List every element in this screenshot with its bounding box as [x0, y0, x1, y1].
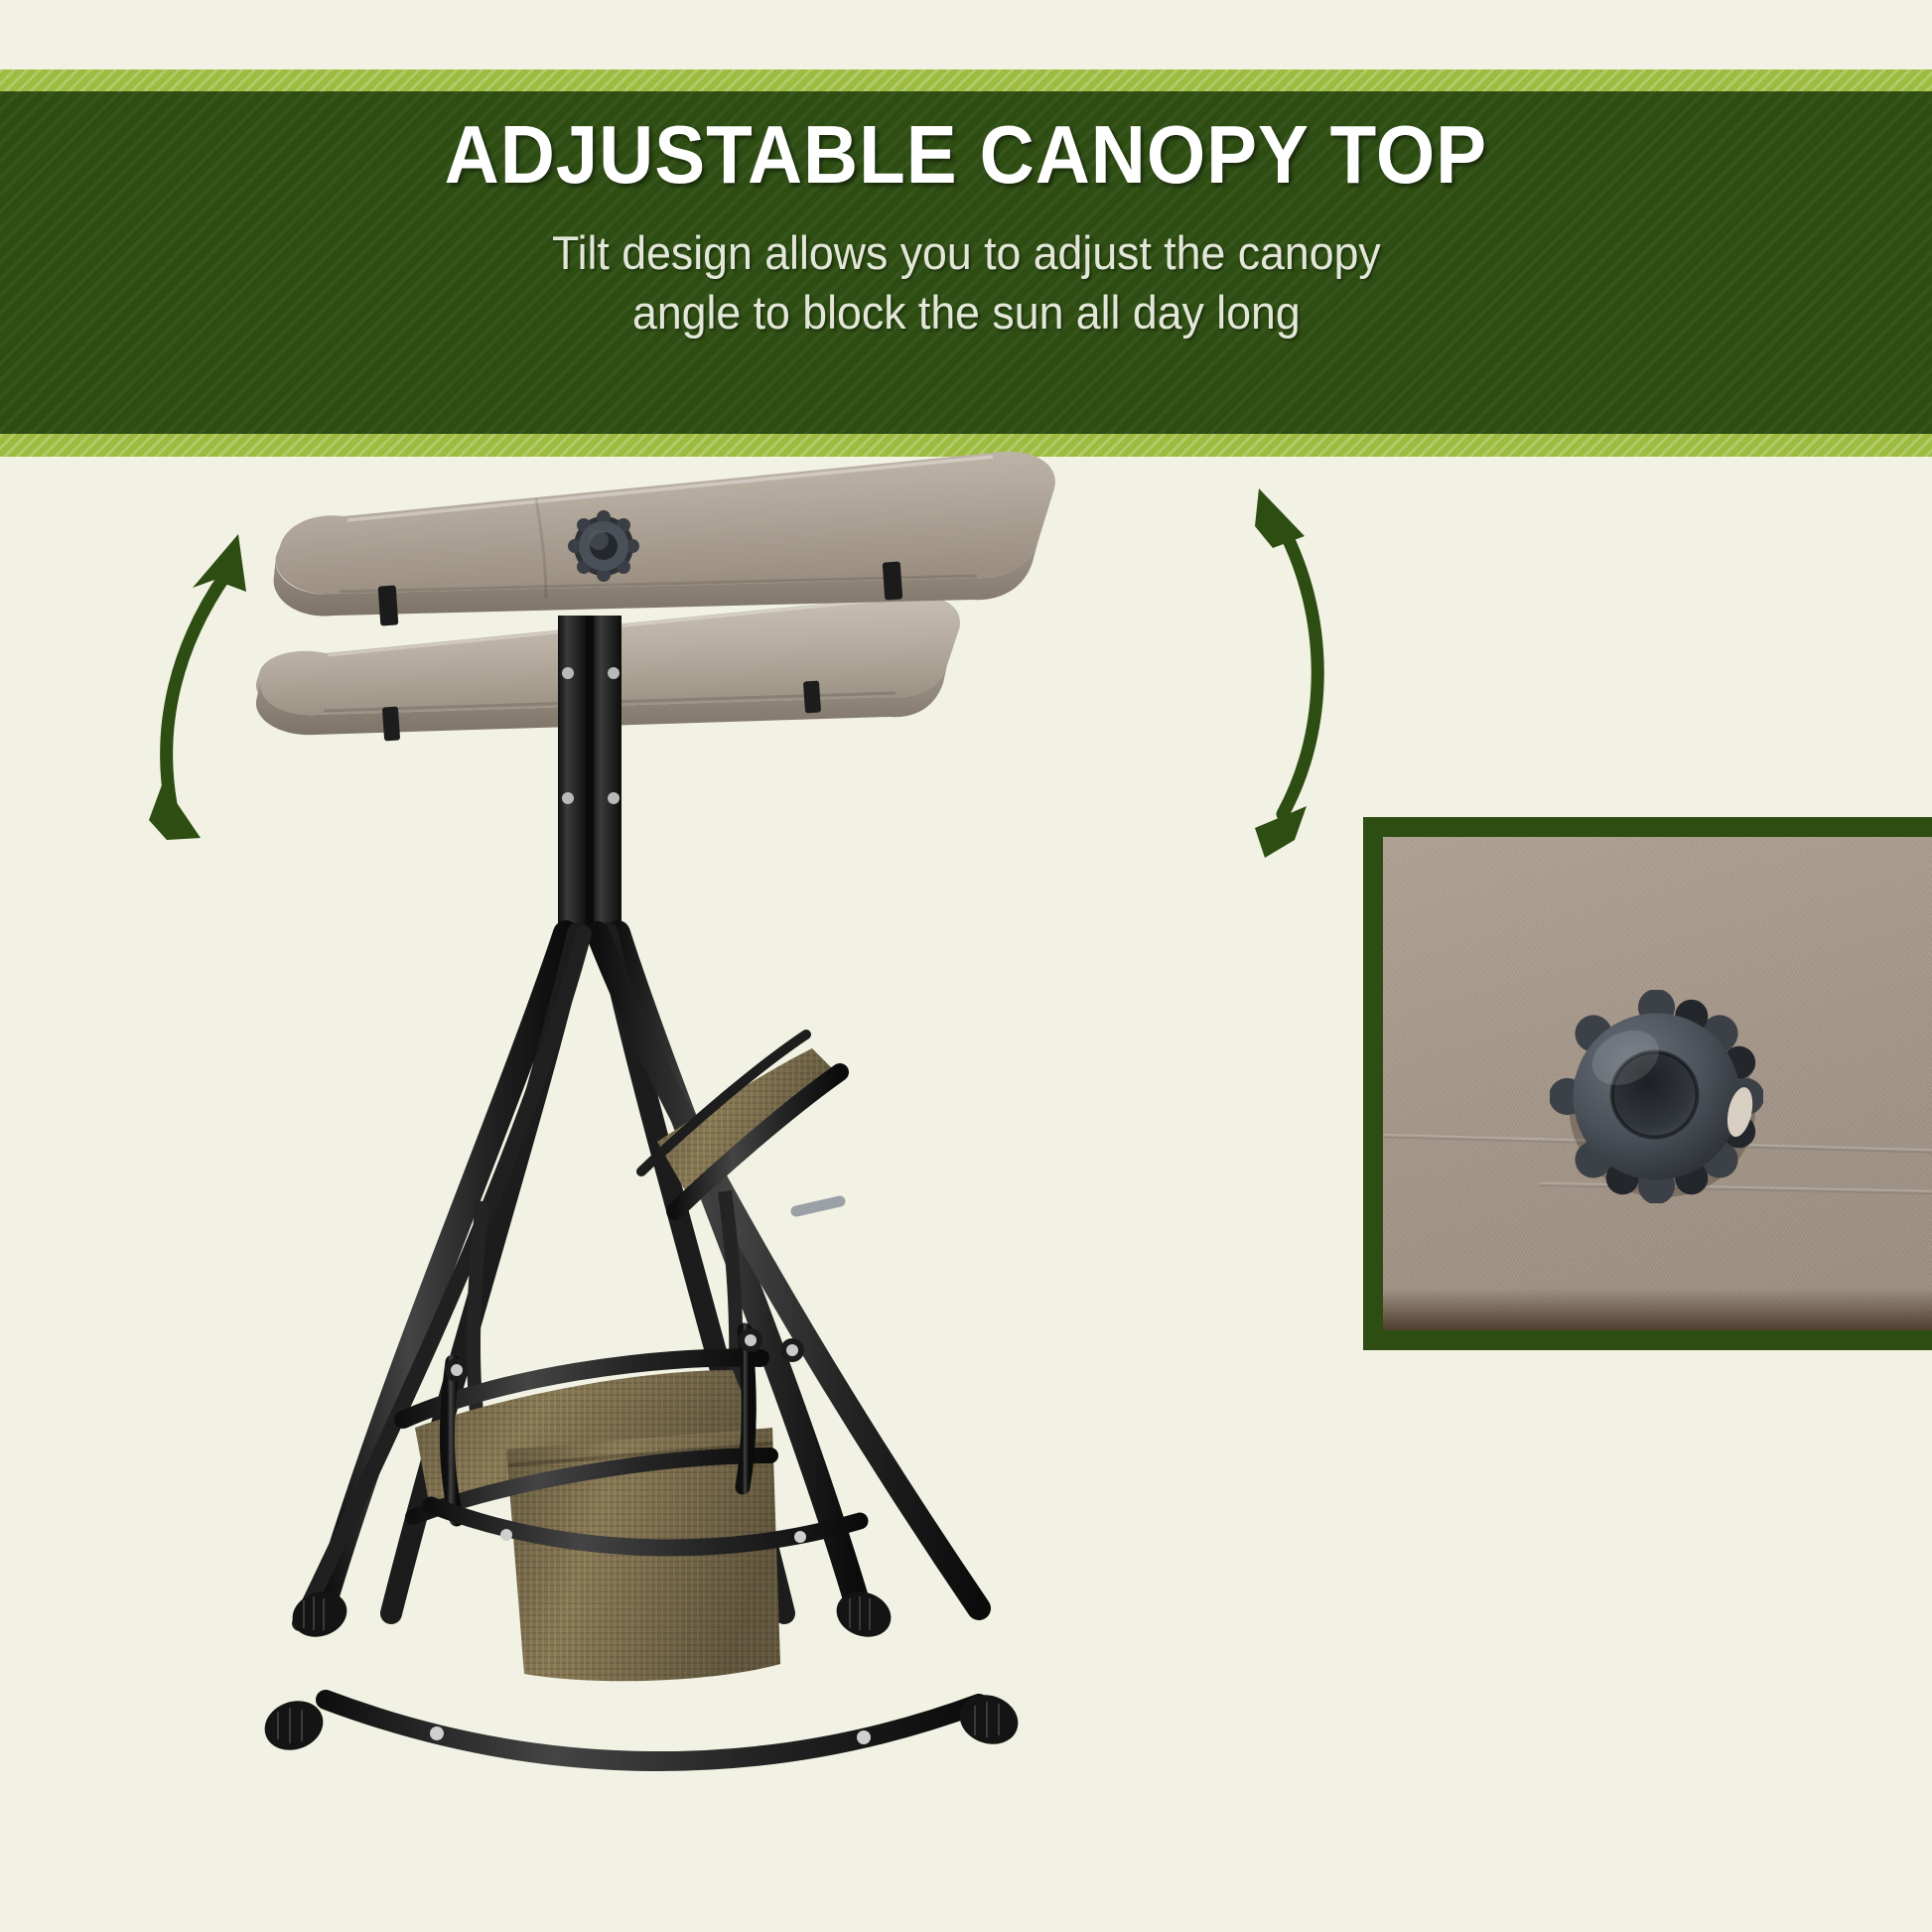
canopy-adjustment-knob-icon [568, 510, 639, 582]
banner-subtitle-line-1: Tilt design allows you to adjust the can… [552, 223, 1381, 283]
foot-cap [830, 1585, 897, 1644]
adjustment-knob-icon [1550, 990, 1763, 1203]
banner-subtitle: Tilt design allows you to adjust the can… [552, 223, 1381, 343]
product-scene [0, 457, 1932, 1932]
banner-text-group: ADJUSTABLE CANOPY TOP Tilt design allows… [0, 91, 1932, 434]
fabric-shadow [1383, 1289, 1932, 1330]
banner-subtitle-line-2: angle to block the sun all day long [552, 283, 1381, 343]
product-feature-image: ADJUSTABLE CANOPY TOP Tilt design allows… [0, 0, 1932, 1932]
canopy-bracket-lower-2 [803, 680, 821, 713]
page-title: ADJUSTABLE CANOPY TOP [445, 113, 1487, 196]
foot-cap [286, 1585, 353, 1644]
canopy-swing-illustration [208, 417, 1241, 1807]
knob-closeup-photo [1383, 837, 1932, 1330]
canopy-bracket-lower [382, 706, 400, 741]
banner-stripe-top [0, 69, 1932, 91]
armrest-nub [796, 1201, 840, 1211]
knob-closeup-panel [1363, 817, 1932, 1350]
foot-cap [953, 1687, 1026, 1752]
canopy-bracket-upper [378, 585, 399, 625]
canopy-bracket-upper-2 [883, 561, 903, 600]
canopy-panel-upper [274, 452, 1055, 626]
canopy-support-pole [558, 616, 621, 943]
